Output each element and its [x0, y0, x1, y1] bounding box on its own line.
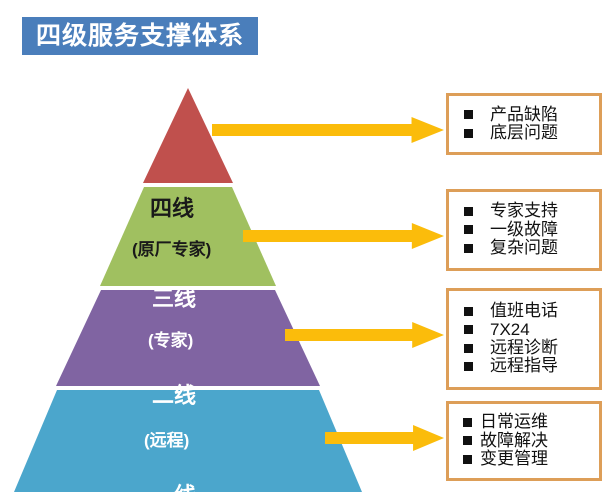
- callout-item-label: 变更管理: [480, 450, 548, 468]
- callout-list-item: 7X24: [449, 321, 599, 339]
- square-bullet-icon: [464, 307, 473, 316]
- square-bullet-icon: [463, 418, 472, 427]
- callout-list-item: 变更管理: [449, 450, 599, 468]
- square-bullet-icon: [463, 436, 472, 445]
- page-title-banner: 四级服务支撑体系: [22, 17, 258, 55]
- callout-item-label: 产品缺陷: [490, 106, 558, 124]
- callout-list-item: 底层问题: [449, 124, 599, 142]
- pyramid-tier-2-shape[interactable]: [56, 290, 320, 386]
- callout-item-label: 7X24: [490, 321, 530, 339]
- callout-item-label: 专家支持: [490, 202, 558, 220]
- square-bullet-icon: [464, 207, 473, 216]
- callout-item-label: 复杂问题: [490, 239, 558, 257]
- right-block-arrow-icon-tier-3: [243, 223, 444, 249]
- callout-item-label: 远程诊断: [490, 339, 558, 357]
- callout-item-label: 远程指导: [490, 357, 558, 375]
- callout-box-tier-3[interactable]: 专家支持 一级故障 复杂问题: [446, 189, 602, 271]
- callout-list-item: 专家支持: [449, 202, 599, 220]
- callout-item-label: 一级故障: [490, 221, 558, 239]
- callout-list-item: 日常运维: [449, 413, 599, 431]
- callout-list-item: 远程指导: [449, 357, 599, 375]
- square-bullet-icon: [464, 362, 473, 371]
- callout-item-label: 故障解决: [480, 432, 548, 450]
- callout-box-tier-4[interactable]: 产品缺陷 底层问题: [446, 93, 602, 155]
- callout-item-label: 底层问题: [490, 124, 558, 142]
- callout-box-tier-2[interactable]: 值班电话 7X24 远程诊断 远程指导: [446, 288, 602, 390]
- callout-item-label: 值班电话: [490, 302, 558, 320]
- square-bullet-icon: [464, 110, 473, 119]
- page-title: 四级服务支撑体系: [36, 24, 244, 49]
- callout-item-label: 日常运维: [480, 413, 548, 431]
- diagram-canvas: 四级服务支撑体系 四线 (原厂专家) 三线 (专家) 二线 (远程) 一线 (现…: [0, 0, 612, 500]
- callout-list-item: 复杂问题: [449, 239, 599, 257]
- callout-list-item: 产品缺陷: [449, 106, 599, 124]
- callout-list-item: 故障解决: [449, 432, 599, 450]
- callout-list-item: 远程诊断: [449, 339, 599, 357]
- square-bullet-icon: [464, 325, 473, 334]
- callout-box-tier-1[interactable]: 日常运维 故障解决 变更管理: [446, 401, 602, 481]
- right-block-arrow-icon-tier-4: [212, 117, 444, 143]
- callout-list-item: 值班电话: [449, 302, 599, 320]
- callout-list-item: 一级故障: [449, 221, 599, 239]
- square-bullet-icon: [464, 129, 473, 138]
- right-block-arrow-icon-tier-2: [285, 322, 444, 348]
- square-bullet-icon: [464, 225, 473, 234]
- square-bullet-icon: [464, 244, 473, 253]
- square-bullet-icon: [463, 455, 472, 464]
- square-bullet-icon: [464, 344, 473, 353]
- pyramid-tier-1-shape[interactable]: [14, 390, 362, 492]
- right-block-arrow-icon-tier-1: [325, 425, 444, 451]
